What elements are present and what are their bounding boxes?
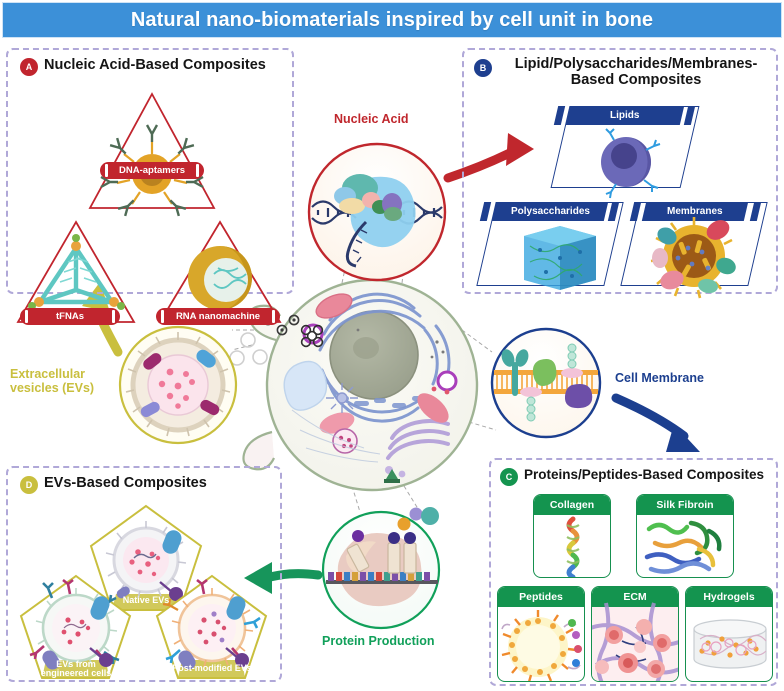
arrow-membrane-to-proteins [616, 398, 700, 452]
card-lipids-label: Lipids [566, 106, 684, 125]
caption-tfnas: tFNAs [20, 308, 120, 325]
panel-d-header: D EVs-Based Composites [20, 476, 207, 494]
card-hydrogels: Hydrogels [685, 586, 773, 682]
silk-fibroin-icon [637, 515, 733, 577]
caption-rna-nanomachine: RNA nanomachine [156, 308, 280, 325]
card-polysaccharides-label: Polysaccharides [492, 202, 608, 221]
hydrogels-icon [686, 607, 772, 681]
panel-a-header: A Nucleic Acid-Based Composites [20, 58, 266, 76]
card-hydrogels-label: Hydrogels [686, 587, 772, 607]
panel-a-nucleic-acid: A Nucleic Acid-Based Composites [6, 48, 294, 294]
panel-c-header: C Proteins/Peptides-Based Composites [500, 468, 764, 486]
label-nucleic-acid: Nucleic Acid [334, 112, 409, 126]
figure-canvas: Natural nano-biomaterials inspired by ce… [0, 0, 784, 691]
caption-native-evs: Native EVs [106, 596, 186, 605]
card-silk-fibroin: Silk Fibroin [636, 494, 734, 578]
card-collagen: Collagen [533, 494, 611, 578]
panel-c-title: Proteins/Peptides-Based Composites [524, 468, 764, 483]
panel-b-header: B Lipid/Polysaccharides/Membranes-Based … [474, 57, 774, 88]
label-extracellular-vesicles: Extracellular vesicles (EVs) [10, 367, 94, 395]
ecm-icon [592, 607, 678, 681]
card-ecm: ECM [591, 586, 679, 682]
caption-post-modified-evs: Post-modified EVs [172, 664, 252, 673]
card-peptides-label: Peptides [498, 587, 584, 607]
label-protein-production: Protein Production [322, 634, 435, 648]
panel-d-badge: D [20, 476, 38, 494]
panel-b-lipid-polysaccharide-membrane: B Lipid/Polysaccharides/Membranes-Based … [462, 48, 778, 294]
label-cell-membrane: Cell Membrane [615, 371, 704, 385]
card-silk-fibroin-label: Silk Fibroin [637, 495, 733, 515]
card-lipids-tick-left [554, 106, 565, 125]
figure-title: Natural nano-biomaterials inspired by ce… [131, 9, 653, 32]
panel-c-badge: C [500, 468, 518, 486]
panel-d-graphics [8, 468, 284, 684]
card-peptides: Peptides [497, 586, 585, 682]
card-polysaccharides-tick-left [480, 202, 491, 221]
panel-a-badge: A [20, 58, 38, 76]
caption-dna-aptamers: DNA-aptamers [100, 162, 204, 179]
caption-engineered-evs: EVs from engineered cells [36, 660, 116, 679]
panel-c-proteins-peptides: C Proteins/Peptides-Based Composites Col… [489, 458, 778, 686]
panel-a-title: Nucleic Acid-Based Composites [44, 58, 266, 74]
panel-d-title: EVs-Based Composites [44, 476, 207, 492]
panel-b-badge: B [474, 59, 492, 77]
card-collagen-label: Collagen [534, 495, 610, 515]
peptides-icon [498, 607, 584, 681]
panel-b-title: Lipid/Polysaccharides/Membranes-Based Co… [498, 57, 774, 88]
figure-title-banner: Natural nano-biomaterials inspired by ce… [2, 2, 782, 38]
card-membranes-label: Membranes [642, 202, 748, 221]
collagen-icon [534, 515, 610, 577]
panel-d-evs: D EVs-Based Composites [6, 466, 282, 682]
